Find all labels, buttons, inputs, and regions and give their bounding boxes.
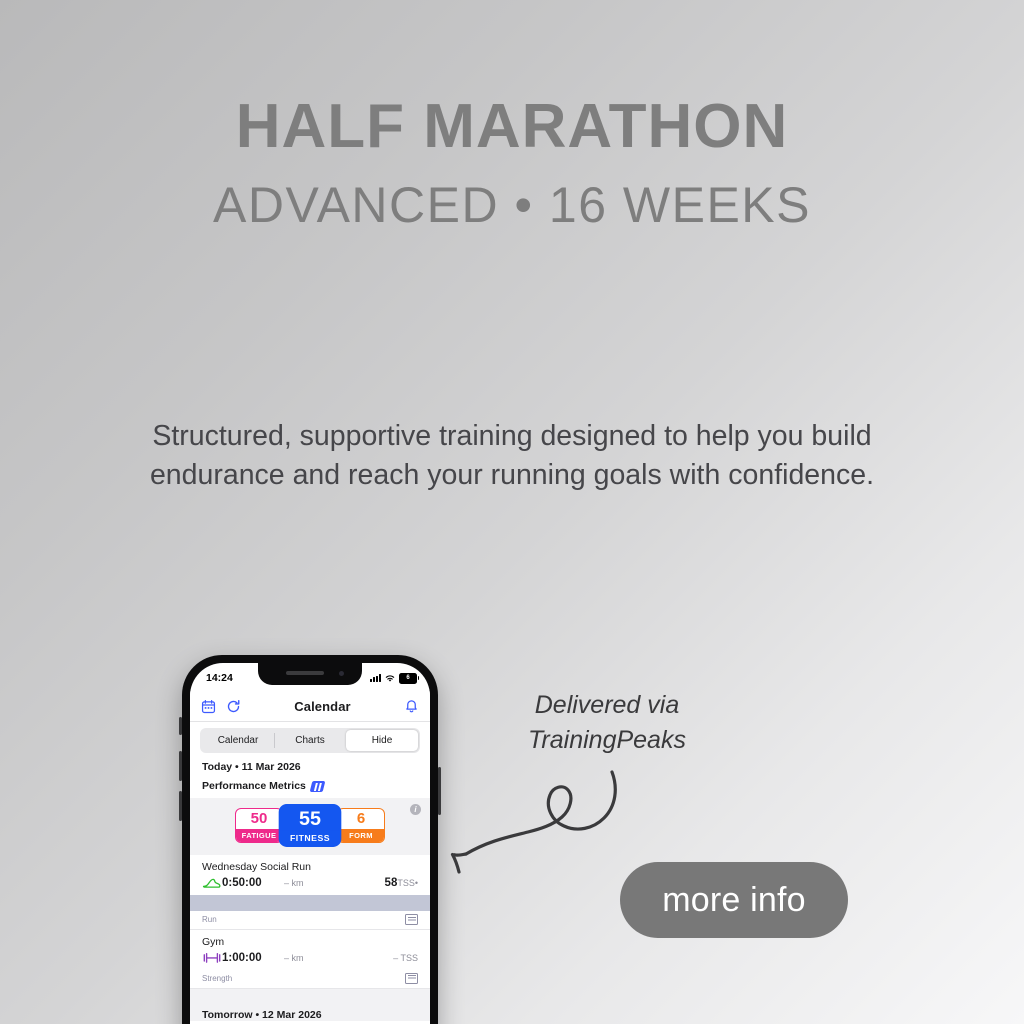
annotation-text: Delivered via TrainingPeaks: [508, 688, 706, 758]
section-gap: [190, 989, 430, 1003]
workout-tss-label: TSS•: [397, 878, 418, 888]
workout-row-run[interactable]: Wednesday Social Run 0:50:00 – km 58TSS•: [190, 855, 430, 895]
segment-hide[interactable]: Hide: [346, 730, 418, 751]
wifi-icon: [384, 673, 396, 683]
metric-form[interactable]: 6 FORM: [337, 808, 385, 843]
battery-icon: 6: [399, 673, 417, 684]
view-segmented-control[interactable]: Calendar Charts Hide: [200, 728, 420, 753]
status-bar-time: 14:24: [206, 672, 233, 684]
trainingpeaks-logo-icon: [310, 781, 326, 792]
segment-charts[interactable]: Charts: [274, 730, 346, 751]
workout-distance: – km: [284, 878, 336, 888]
workout-tss-label: – TSS: [393, 953, 418, 963]
metric-form-value: 6: [338, 809, 384, 829]
metric-fitness-label: FITNESS: [280, 831, 340, 846]
nav-title: Calendar: [251, 699, 394, 714]
more-info-button[interactable]: more info: [620, 862, 848, 938]
day-header-tomorrow: Tomorrow • 12 Mar 2026: [190, 1003, 430, 1021]
day-header-today: Today • 11 Mar 2026: [190, 753, 430, 773]
info-icon[interactable]: i: [410, 804, 421, 815]
volume-up-button[interactable]: [179, 751, 182, 781]
workout-duration: 0:50:00: [222, 877, 284, 889]
workout-footer-gym: Strength: [190, 970, 430, 989]
status-bar: 14:24 6: [190, 663, 430, 691]
more-info-label: more info: [662, 881, 806, 920]
bell-icon[interactable]: [404, 699, 419, 714]
cellular-signal-icon: [370, 674, 381, 682]
segment-calendar[interactable]: Calendar: [202, 730, 274, 751]
poster-heading-block: HALF MARATHON ADVANCED • 16 WEEKS: [0, 96, 1024, 230]
annotation-line-1: Delivered via: [508, 688, 706, 723]
workout-row-gym[interactable]: Gym 1:00:00 – km – TSS: [190, 930, 430, 970]
workout-title: Wednesday Social Run: [202, 861, 418, 876]
dumbbell-icon: [202, 951, 222, 965]
performance-metrics-label: Performance Metrics: [202, 780, 306, 792]
metric-fatigue-value: 50: [236, 809, 282, 829]
battery-level-label: 6: [406, 675, 409, 681]
metric-fitness[interactable]: 55 FITNESS: [279, 804, 342, 847]
metric-fatigue[interactable]: 50 FATIGUE: [235, 808, 283, 843]
volume-down-button[interactable]: [179, 791, 182, 821]
metric-form-label: FORM: [338, 829, 384, 842]
workout-category: Run: [202, 915, 217, 924]
workout-tss: – TSS: [336, 953, 418, 963]
annotation-line-2: TrainingPeaks: [508, 723, 706, 758]
note-icon[interactable]: [405, 914, 418, 925]
phone-screen: 14:24 6: [190, 663, 430, 1024]
metric-fitness-value: 55: [280, 805, 340, 831]
workout-duration: 1:00:00: [222, 952, 284, 964]
workout-footer-run: Run: [190, 911, 430, 930]
refresh-icon[interactable]: [226, 699, 241, 714]
workout-category: Strength: [202, 974, 232, 983]
running-shoe-icon: [202, 876, 222, 890]
silent-switch-button[interactable]: [179, 717, 182, 735]
phone-mockup: 14:24 6: [182, 655, 438, 1024]
workout-distance: – km: [284, 953, 336, 963]
calendar-icon[interactable]: [201, 699, 216, 714]
workout-title: Gym: [202, 936, 418, 951]
performance-metrics-header: Performance Metrics: [190, 773, 430, 792]
app-nav-bar: Calendar: [190, 691, 430, 722]
workout-tss-value: 58: [385, 877, 398, 889]
body-description: Structured, supportive training designed…: [142, 417, 882, 496]
performance-metrics-band: 50 FATIGUE 55 FITNESS 6 FORM i: [190, 798, 430, 855]
page-title: HALF MARATHON: [0, 96, 1024, 158]
curved-arrow-icon: [440, 768, 630, 883]
page-subtitle: ADVANCED • 16 WEEKS: [0, 180, 1024, 230]
note-icon[interactable]: [405, 973, 418, 984]
workout-tss: 58TSS•: [336, 877, 418, 889]
workout-progress-bar: [190, 895, 430, 911]
metric-fatigue-label: FATIGUE: [236, 829, 282, 842]
